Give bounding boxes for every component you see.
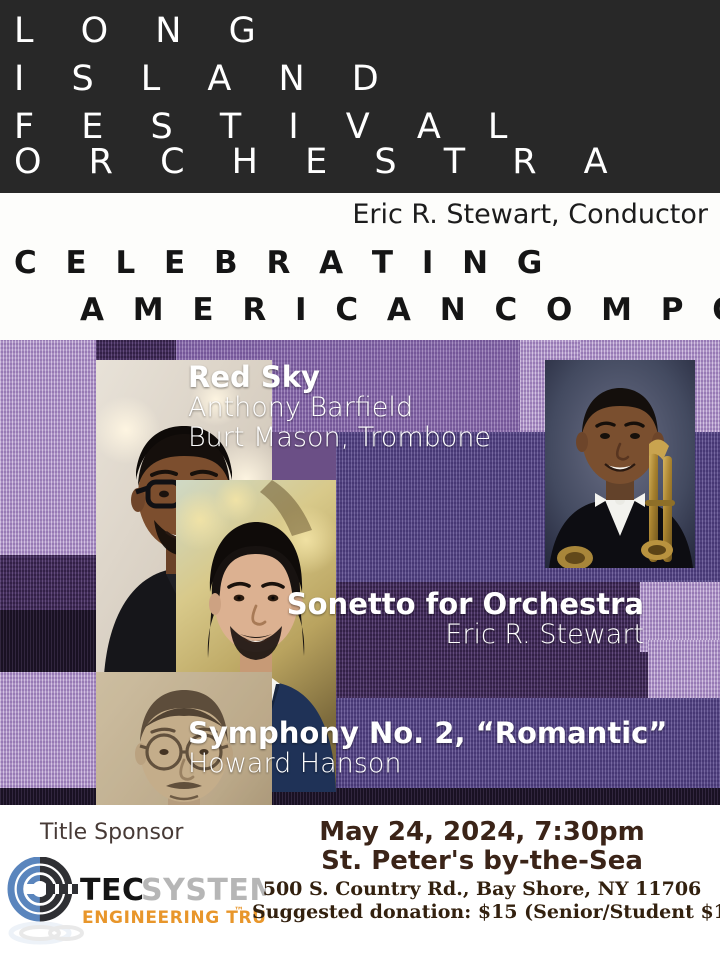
sponsor-name-systems: SYSTEMS [141, 873, 266, 908]
event-date: May 24, 2024, 7:30pm [252, 818, 712, 847]
sponsor-name-tec: TEC [80, 873, 144, 908]
sponsor-trademark: ™ [234, 906, 244, 917]
texture-tile-left-top [0, 340, 96, 555]
event-address: 500 S. Country Rd., Bay Shore, NY 11706 [252, 878, 712, 901]
program-item-1-composer: Anthony Barfield [188, 393, 536, 423]
event-details: May 24, 2024, 7:30pm St. Peter's by-the-… [252, 818, 712, 925]
program-item-1-work: Red Sky [188, 362, 536, 393]
ensemble-name-line-2: I S L A N D [14, 62, 397, 97]
ensemble-name-line-3: F E S T I V A L [14, 110, 525, 145]
conductor-credit: Eric R. Stewart, Conductor [352, 199, 708, 230]
tecsystems-logo[interactable]: TEC SYSTEMS ENGINEERING TRUST ™ [6, 857, 266, 952]
ensemble-name-line-4: O R C H E S T R A [14, 145, 626, 180]
texture-tile-left-mid [0, 555, 96, 610]
masthead-banner: L O N G I S L A N D F E S T I V A L O R … [0, 0, 720, 193]
burt-mason-portrait [545, 360, 695, 568]
program-item-2-composer: Eric R. Stewart [445, 620, 644, 650]
program-title-line-1: C E L E B R A T I N G [14, 248, 551, 279]
program-item-2-work: Sonetto for Orchestra [287, 589, 644, 620]
photo-collage: Red Sky Anthony Barfield Burt Mason, Tro… [0, 340, 720, 805]
title-band: Eric R. Stewart, Conductor C E L E B R A… [0, 193, 720, 340]
title-sponsor-label: Title Sponsor [40, 820, 183, 845]
ensemble-name-line-1: L O N G [14, 14, 274, 49]
program-item-1: Red Sky Anthony Barfield Burt Mason, Tro… [176, 356, 536, 460]
program-title-line-2: A M E R I C A N C O M P O S E R S [80, 295, 720, 326]
program-item-1-soloist: Burt Mason, Trombone [188, 423, 536, 453]
program-item-2: Sonetto for Orchestra Eric R. Stewart [336, 582, 686, 658]
program-item-3: Symphony No. 2, “Romantic” Howard Hanson [176, 708, 676, 790]
event-venue: St. Peter's by-the-Sea [252, 847, 712, 876]
program-item-3-composer: Howard Hanson [188, 749, 676, 779]
event-donation: Suggested donation: $15 (Senior/Student … [252, 901, 712, 924]
texture-tile-left-bottom [0, 672, 96, 805]
program-item-3-work: Symphony No. 2, “Romantic” [188, 718, 676, 749]
texture-tile-left-dark [0, 610, 96, 672]
